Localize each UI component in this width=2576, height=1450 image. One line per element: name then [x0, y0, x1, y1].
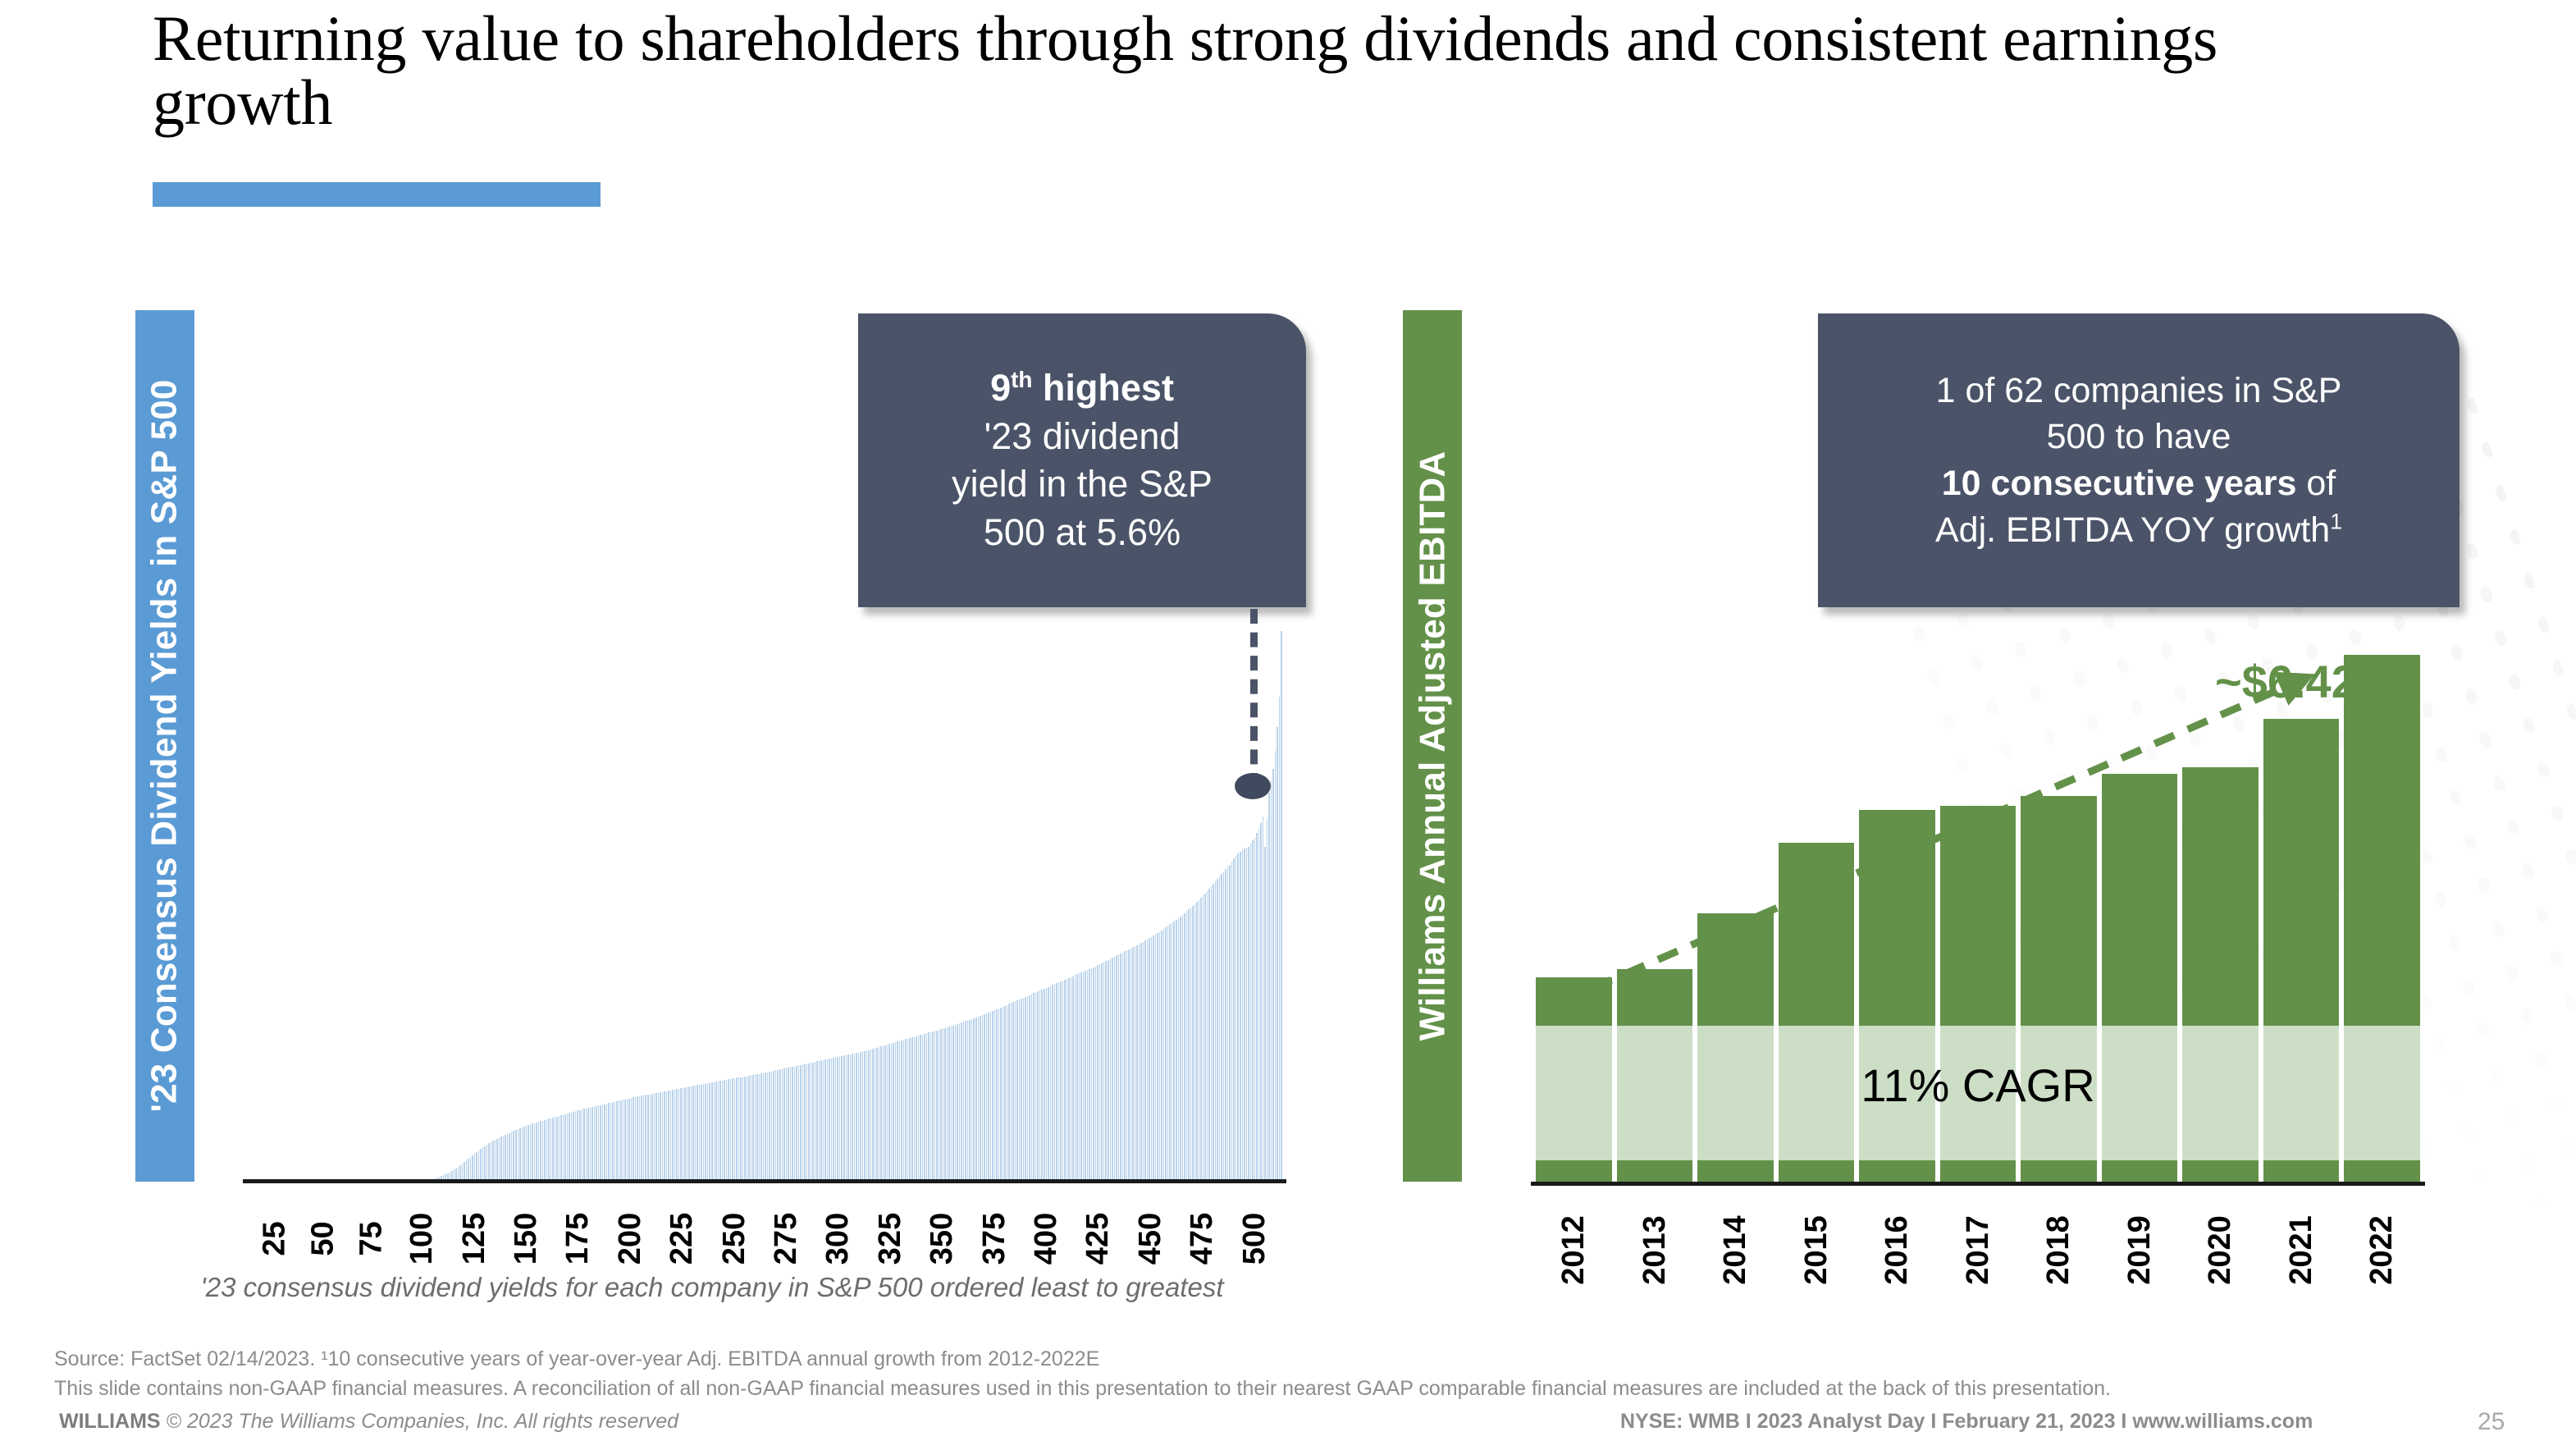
- ebitda-x-tick-labels: 2012201320142015201620172018201920202021…: [1536, 1192, 2420, 1290]
- ebitda-bar-top-segment: [1779, 843, 1855, 1026]
- histogram-tick-label: 50: [306, 1221, 341, 1256]
- ebitda-bar: [2021, 796, 2097, 1182]
- ebitda-tick-label: 2018: [2041, 1215, 2076, 1285]
- histogram-tick-label: 300: [821, 1213, 856, 1265]
- ebitda-streak-callout: 1 of 62 companies in S&P 500 to have 10 …: [1818, 313, 2460, 607]
- callout-right-line3-bold: 10 consecutive years: [1942, 464, 2297, 503]
- ebitda-bar-base-segment: [1940, 1160, 2016, 1182]
- callout-left-rank: 9: [990, 367, 1011, 409]
- callout-right-line4: Adj. EBITDA YOY growth: [1935, 510, 2330, 550]
- ebitda-tick-label: 2015: [1798, 1215, 1834, 1285]
- ebitda-bar-base-segment: [2021, 1160, 2097, 1182]
- ebitda-bar: [2102, 774, 2178, 1182]
- left-chart-axis-banner: '23 Consensus Dividend Yields in S&P 500: [135, 310, 194, 1182]
- wmb-marker-dot: [1235, 773, 1271, 799]
- histogram-bar: [1281, 631, 1283, 1182]
- callout-left-line2: '23 dividend: [984, 415, 1181, 457]
- histogram-tick-label: 325: [873, 1213, 908, 1265]
- ebitda-bar: [1859, 810, 1935, 1182]
- histogram-caption: '23 consensus dividend yields for each c…: [138, 1272, 1286, 1303]
- histogram-tick-label: 100: [404, 1213, 440, 1265]
- ebitda-tick-label: 2022: [2364, 1215, 2400, 1285]
- ebitda-tick: 2022: [2344, 1192, 2420, 1290]
- ebitda-bar-top-segment: [2102, 774, 2178, 1026]
- histogram-tick: 350: [916, 1192, 968, 1282]
- ebitda-bar: [2182, 767, 2259, 1182]
- callout-left-ordinal-suffix: th: [1011, 367, 1032, 392]
- histogram-tick: 175: [552, 1192, 604, 1282]
- ebitda-tick-label: 2019: [2122, 1215, 2158, 1285]
- histogram-tick: 375: [969, 1192, 1021, 1282]
- histogram-tick-label: 375: [977, 1213, 1012, 1265]
- histogram-x-tick-labels: 2550751001251501752002252502753003253503…: [251, 1192, 1281, 1282]
- histogram-tick-label: 125: [457, 1213, 492, 1265]
- histogram-tick: 250: [709, 1192, 760, 1282]
- ebitda-cagr-label: 11% CAGR: [1536, 1059, 2420, 1112]
- title-underline-rule: [153, 182, 601, 207]
- callout-right-line2: 500 to have: [2047, 417, 2231, 456]
- ebitda-bar-base-segment: [1617, 1160, 1693, 1182]
- footer-copyright: WILLIAMS © 2023 The Williams Companies, …: [59, 1410, 678, 1434]
- page-number: 25: [2478, 1408, 2505, 1436]
- ebitda-bar-base-segment: [2182, 1160, 2259, 1182]
- ebitda-bar-top-segment: [1536, 977, 1612, 1026]
- page-title: Returning value to shareholders through …: [153, 7, 2368, 135]
- right-chart-axis-banner: Williams Annual Adjusted EBITDA: [1403, 310, 1462, 1182]
- ebitda-bar-top-segment: [2182, 767, 2259, 1026]
- ebitda-bar-base-segment: [2263, 1160, 2340, 1182]
- ebitda-bar: [1779, 843, 1855, 1182]
- ebitda-tick-label: 2017: [1961, 1215, 1996, 1285]
- ebitda-bar-top-segment: [1697, 913, 1774, 1026]
- histogram-x-axis-line: [243, 1179, 1286, 1183]
- dividend-yield-callout: 9th highest '23 dividend yield in the S&…: [858, 313, 1306, 607]
- ebitda-bar-base-segment: [2344, 1160, 2420, 1182]
- histogram-tick-label: 25: [258, 1221, 293, 1256]
- right-axis-label: Williams Annual Adjusted EBITDA: [1412, 451, 1453, 1041]
- histogram-tick-label: 200: [613, 1213, 648, 1265]
- ebitda-tick: 2017: [1940, 1192, 2016, 1290]
- footnote-line-1: Source: FactSet 02/14/2023. ¹10 consecut…: [54, 1344, 2433, 1374]
- ebitda-bar-top-segment: [2263, 719, 2340, 1026]
- ebitda-tick-label: 2016: [1879, 1215, 1915, 1285]
- ebitda-tick: 2018: [2021, 1192, 2097, 1290]
- histogram-tick-label: 450: [1133, 1213, 1168, 1265]
- histogram-tick-label: 225: [665, 1213, 700, 1265]
- footer-meta: NYSE: WMB I 2023 Analyst Day I February …: [1620, 1410, 2313, 1434]
- histogram-tick-label: 500: [1237, 1213, 1272, 1265]
- histogram-tick: 25: [251, 1192, 299, 1282]
- histogram-tick: 425: [1072, 1192, 1124, 1282]
- ebitda-tick-label: 2020: [2203, 1215, 2238, 1285]
- ebitda-tick: 2013: [1617, 1192, 1693, 1290]
- callout-left-rank-rest: highest: [1032, 367, 1174, 409]
- histogram-tick: 325: [865, 1192, 916, 1282]
- ebitda-bar-base-segment: [2102, 1160, 2178, 1182]
- ebitda-bar-top-segment: [2344, 655, 2420, 1026]
- ebitda-tick: 2012: [1536, 1192, 1612, 1290]
- histogram-tick: 475: [1176, 1192, 1228, 1282]
- ebitda-tick: 2014: [1697, 1192, 1774, 1290]
- ebitda-bar-top-segment: [1617, 969, 1693, 1026]
- histogram-tick: 100: [396, 1192, 448, 1282]
- histogram-tick: 225: [656, 1192, 708, 1282]
- histogram-tick: 275: [760, 1192, 812, 1282]
- histogram-bar-group: [251, 607, 1281, 1182]
- ebitda-peak-value-label: ~$6.42B: [2215, 655, 2390, 708]
- histogram-tick-label: 150: [509, 1213, 544, 1265]
- ebitda-bar-base-segment: [1697, 1160, 1774, 1182]
- callout-right-line3-rest: of: [2296, 464, 2336, 503]
- histogram-tick: 75: [348, 1192, 396, 1282]
- histogram-tick-label: 425: [1081, 1213, 1117, 1265]
- ebitda-tick: 2016: [1859, 1192, 1935, 1290]
- histogram-tick: 50: [299, 1192, 348, 1282]
- histogram-tick-label: 75: [354, 1221, 390, 1256]
- footer-copyright-text: © 2023 The Williams Companies, Inc. All …: [167, 1410, 678, 1433]
- histogram-tick: 125: [449, 1192, 500, 1282]
- ebitda-bar: [1940, 806, 2016, 1182]
- histogram-tick-label: 400: [1029, 1213, 1064, 1265]
- left-axis-label: '23 Consensus Dividend Yields in S&P 500: [144, 379, 185, 1112]
- ebitda-bar-base-segment: [1859, 1160, 1935, 1182]
- ebitda-bar: [2263, 719, 2340, 1182]
- histogram-tick-label: 275: [769, 1213, 804, 1265]
- histogram-tick: 300: [812, 1192, 864, 1282]
- callout-right-line1: 1 of 62 companies in S&P: [1936, 371, 2342, 410]
- ebitda-tick-label: 2012: [1556, 1215, 1592, 1285]
- histogram-tick: 400: [1021, 1192, 1072, 1282]
- ebitda-bar: [1697, 913, 1774, 1182]
- callout-left-line4: 500 at 5.6%: [984, 511, 1181, 553]
- footnote-line-2: This slide contains non-GAAP financial m…: [54, 1374, 2433, 1403]
- histogram-tick-label: 475: [1185, 1213, 1220, 1265]
- callout-left-line3: yield in the S&P: [952, 463, 1213, 505]
- ebitda-tick: 2021: [2263, 1192, 2340, 1290]
- histogram-tick: 150: [500, 1192, 552, 1282]
- ebitda-tick-label: 2013: [1637, 1215, 1672, 1285]
- ebitda-tick: 2015: [1779, 1192, 1855, 1290]
- histogram-tick: 450: [1125, 1192, 1176, 1282]
- histogram-tick: 200: [605, 1192, 656, 1282]
- ebitda-tick-label: 2021: [2284, 1215, 2319, 1285]
- histogram-tick-label: 175: [561, 1213, 596, 1265]
- ebitda-bar-top-segment: [1859, 810, 1935, 1026]
- histogram-tick-label: 350: [925, 1213, 960, 1265]
- ebitda-bar-top-segment: [1940, 806, 2016, 1026]
- ebitda-tick: 2019: [2102, 1192, 2178, 1290]
- histogram-tick: 500: [1229, 1192, 1281, 1282]
- dividend-yield-histogram: [251, 607, 1281, 1182]
- footnotes: Source: FactSet 02/14/2023. ¹10 consecut…: [54, 1344, 2433, 1404]
- ebitda-bar-top-segment: [2021, 796, 2097, 1026]
- ebitda-tick-label: 2014: [1718, 1215, 1753, 1285]
- ebitda-bar-base-segment: [1536, 1160, 1612, 1182]
- ebitda-tick: 2020: [2182, 1192, 2259, 1290]
- wmb-marker-leader-line: [1250, 609, 1258, 788]
- ebitda-bar-base-segment: [1779, 1160, 1855, 1182]
- footer-brand: WILLIAMS: [59, 1410, 161, 1433]
- footnote-marker-1: 1: [2330, 509, 2342, 533]
- histogram-tick-label: 250: [717, 1213, 752, 1265]
- ebitda-x-axis-line: [1531, 1182, 2425, 1186]
